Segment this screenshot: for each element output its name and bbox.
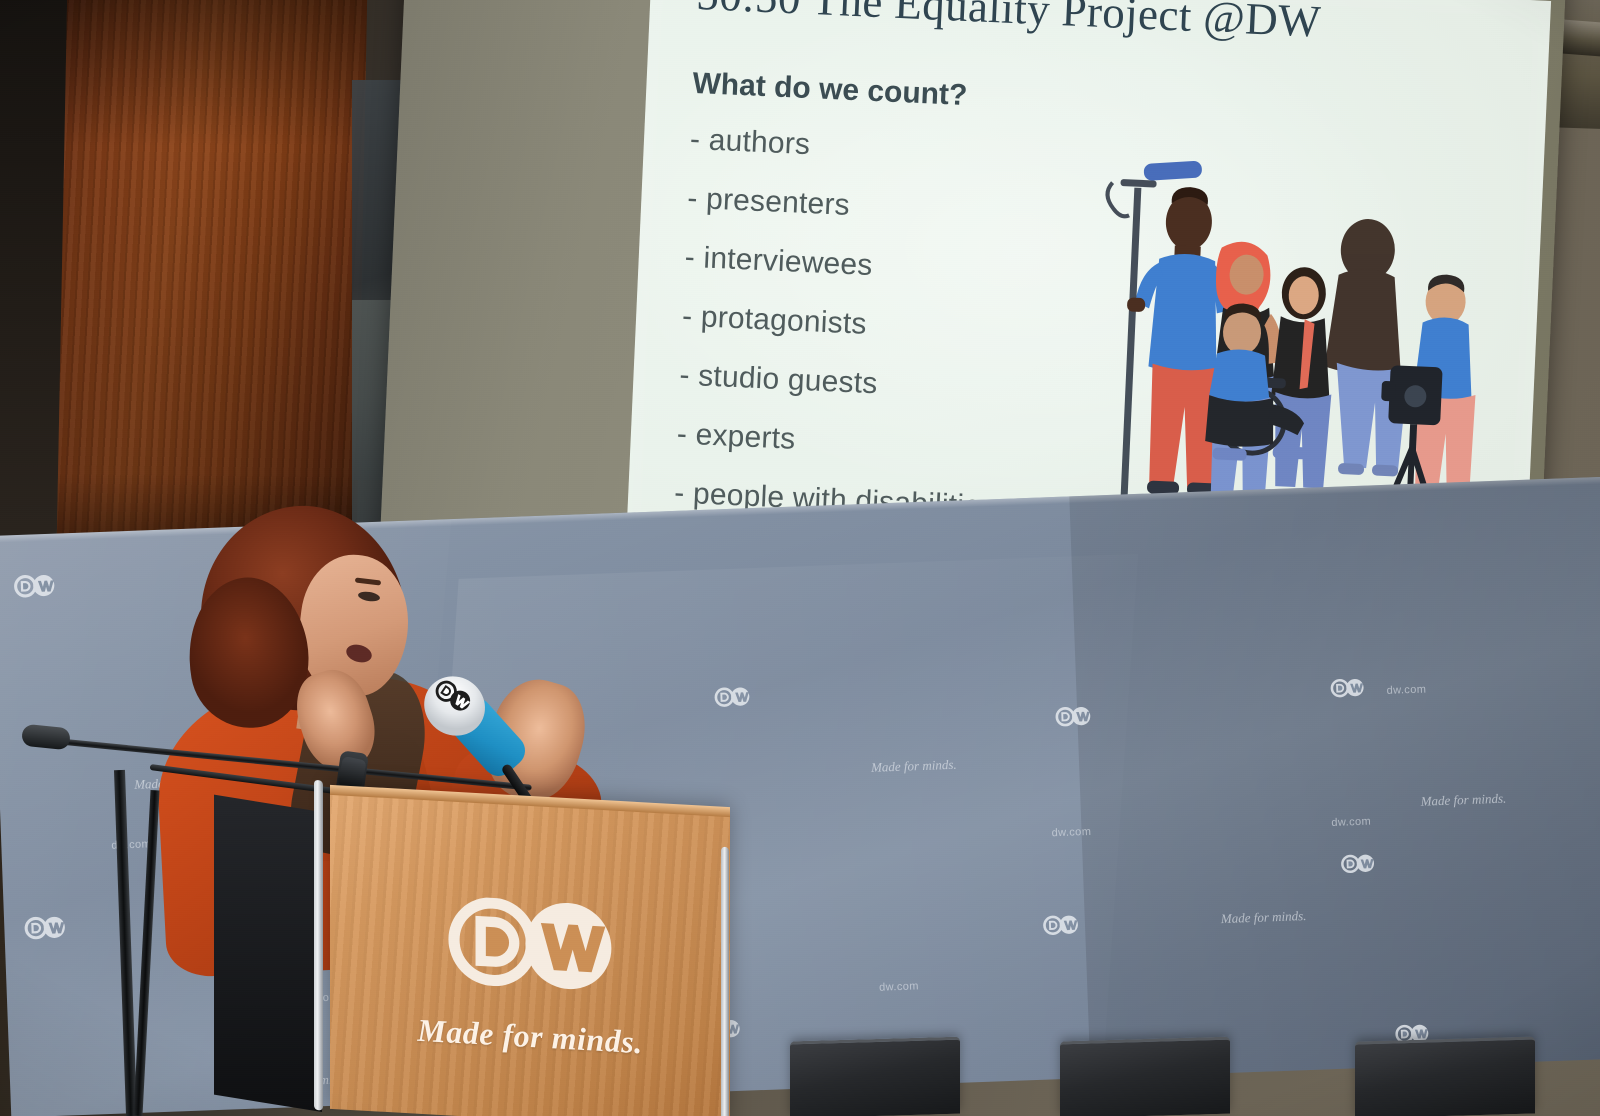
podium-rail-right (721, 847, 729, 1116)
backdrop-url: dw.com (1051, 826, 1091, 839)
dw-logo-icon (448, 895, 620, 993)
list-item: - authors (689, 123, 1120, 176)
list-item: - interviewees (684, 241, 1115, 294)
dw-logo-icon (1341, 853, 1378, 878)
podium-side-dark (214, 795, 322, 1112)
lectern-podium: Made for minds. (330, 789, 730, 1116)
backdrop-url: dw.com (879, 980, 919, 993)
slide-bullet-list: - authors - presenters - interviewees - … (672, 123, 1120, 555)
list-item: - presenters (687, 182, 1118, 235)
backdrop-url: dw.com (1331, 816, 1371, 829)
backdrop-tagline: Made for minds. (871, 757, 957, 776)
dw-logo-icon (1043, 914, 1082, 940)
podium-tagline: Made for minds. (330, 1007, 730, 1066)
dw-logo-icon (1330, 678, 1367, 703)
backdrop-tagline: Made for minds. (1420, 791, 1506, 810)
slide-title: 50:50 The Equality Project @DW (695, 0, 1516, 57)
dw-logo-icon (431, 677, 476, 718)
slide-subtitle: What do we count? (692, 67, 968, 113)
dw-logo-icon (13, 574, 58, 604)
list-item: - protagonists (681, 300, 1112, 353)
presentation-photo-scene: 50:50 The Equality Project @DW What do w… (0, 0, 1600, 1116)
dw-logo-icon (714, 686, 753, 712)
list-item: - experts (676, 418, 1107, 471)
dw-logo-icon (24, 915, 69, 945)
list-item: - studio guests (679, 359, 1110, 412)
chair (1060, 1037, 1230, 1116)
chair (790, 1037, 960, 1116)
chair (1355, 1036, 1535, 1116)
backdrop-shadow (1069, 477, 1600, 1096)
podium-rail-left (314, 780, 323, 1111)
wood-wall-panel (57, 0, 367, 539)
backdrop-tagline: Made for minds. (1221, 908, 1307, 927)
dw-logo-icon (1055, 706, 1094, 732)
backdrop-url: dw.com (1386, 683, 1426, 696)
